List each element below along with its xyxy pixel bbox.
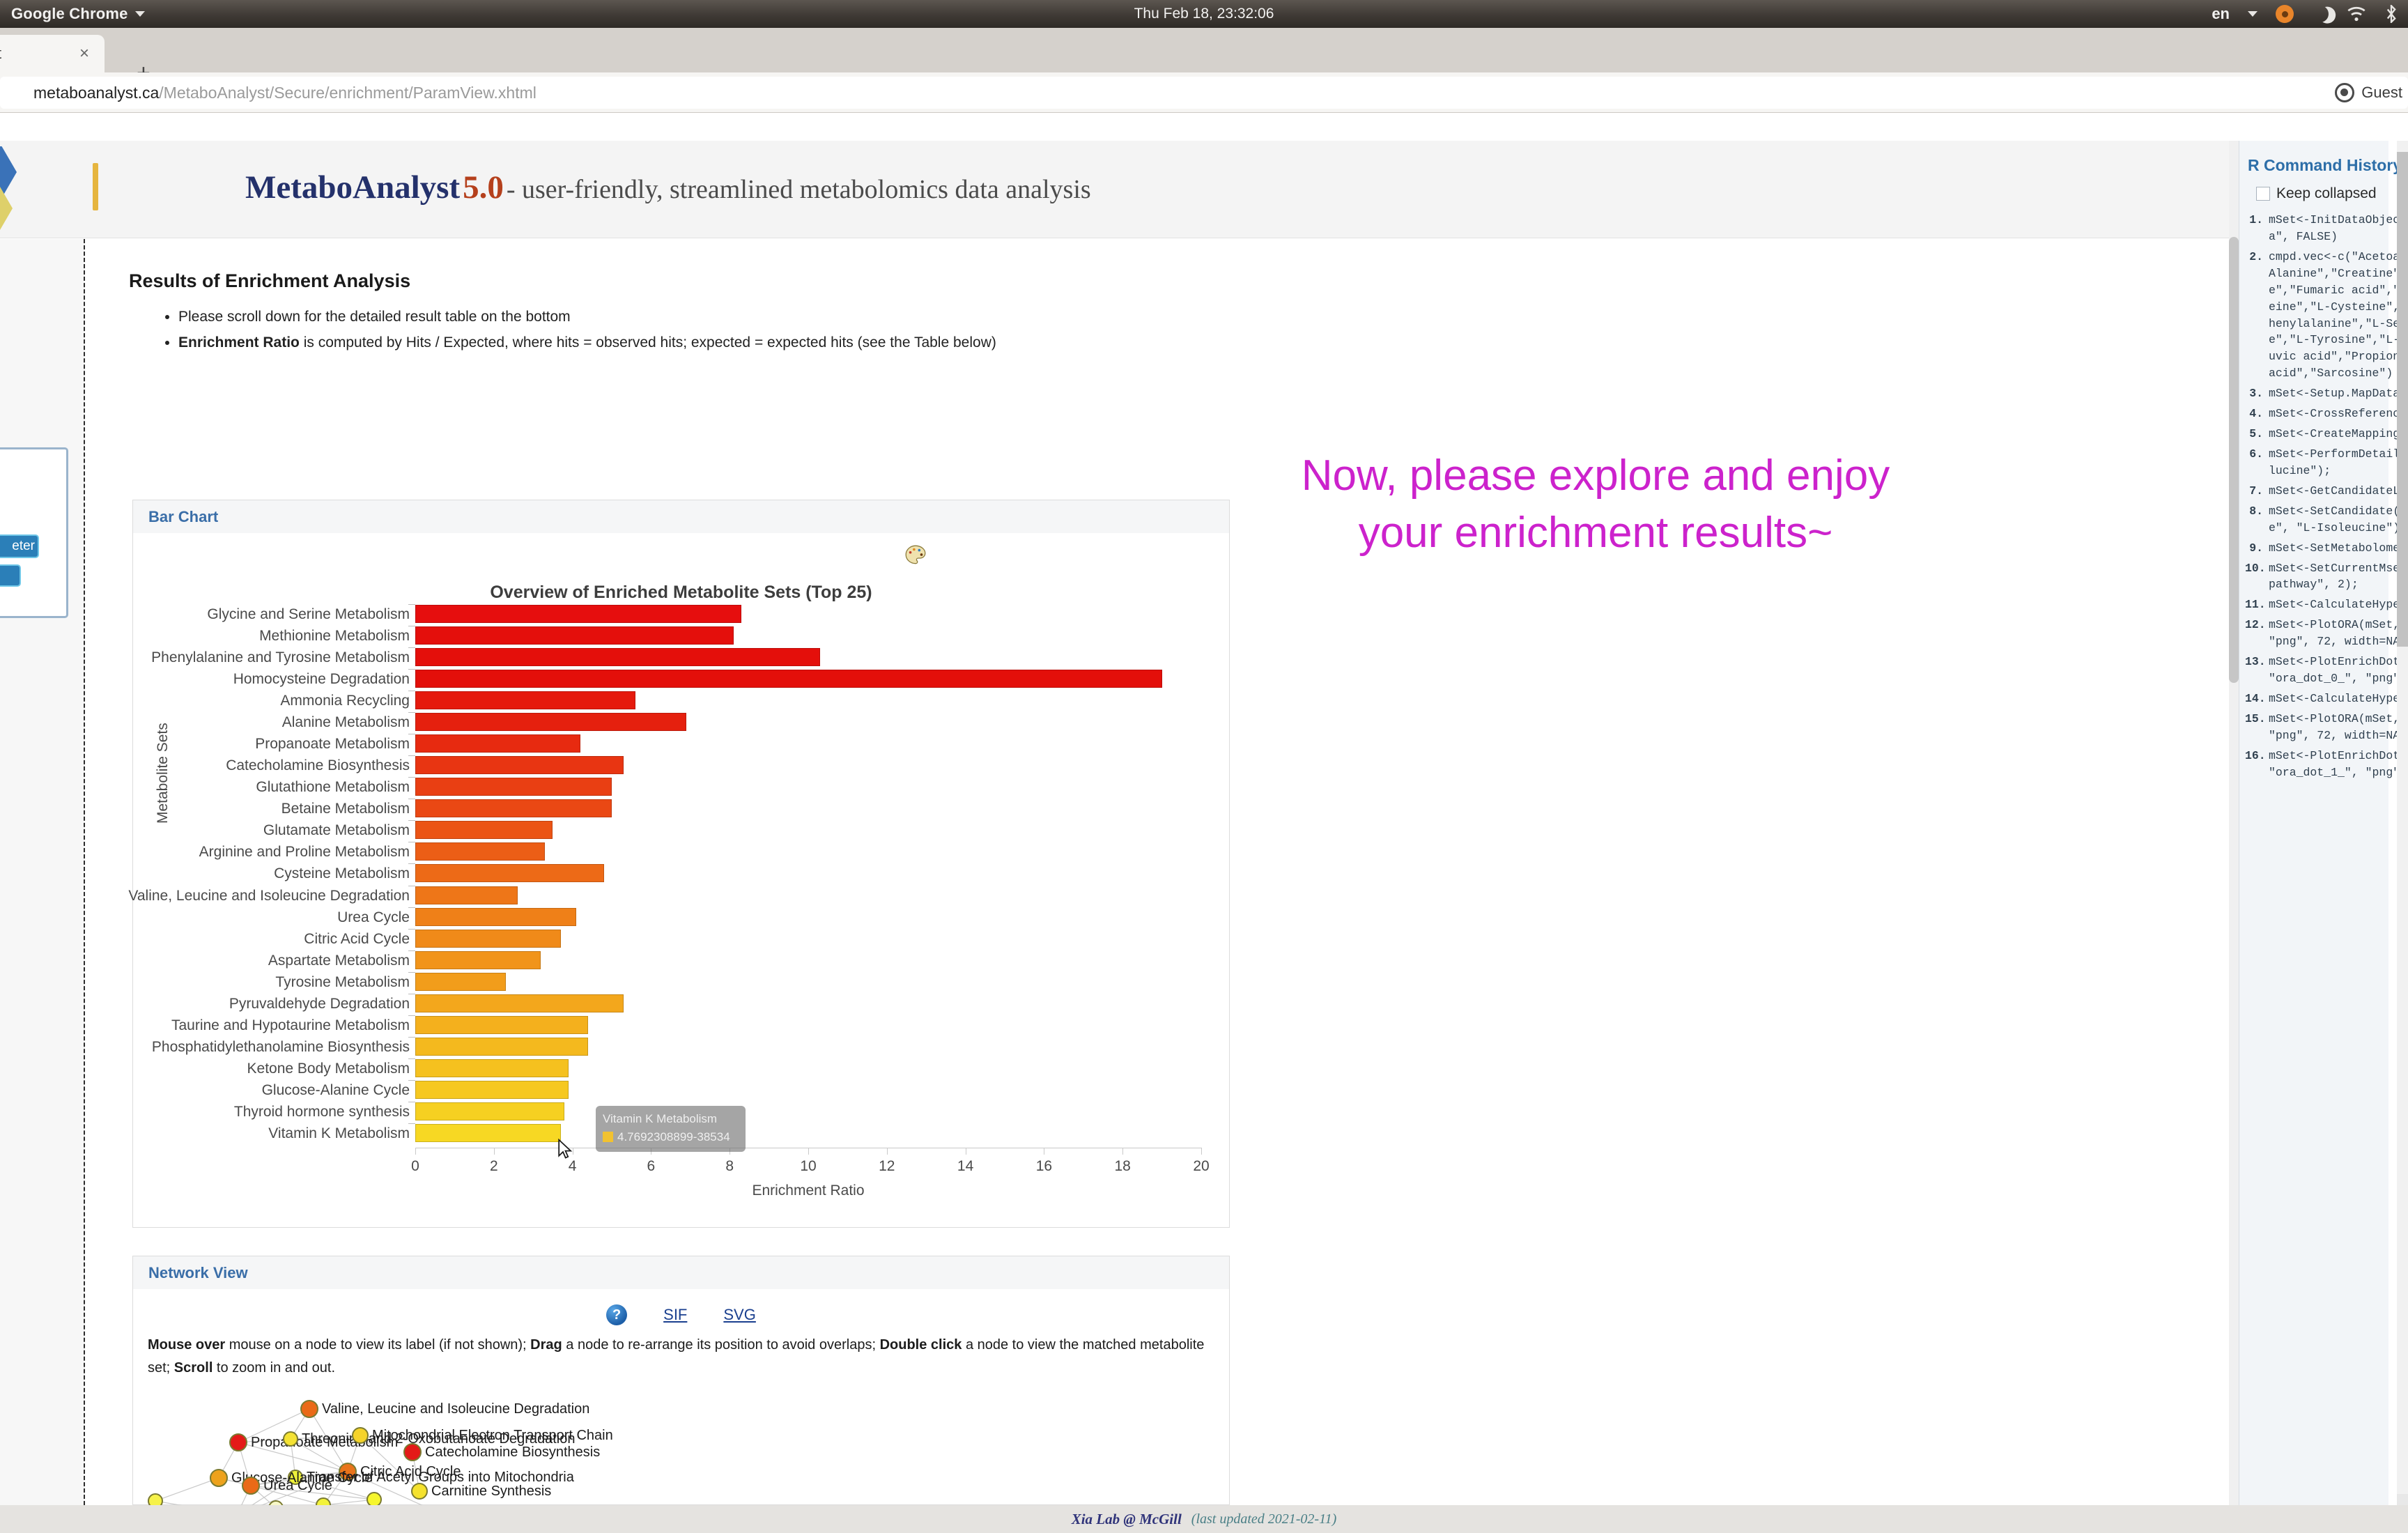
x-axis-tick-label: 8 <box>725 1158 734 1175</box>
y-axis-tick-label: Glutamate Metabolism <box>0 822 410 839</box>
r-command-item: 7.mSet<-GetCandidateL <box>2245 483 2405 500</box>
bar[interactable] <box>415 778 612 796</box>
y-axis-tick-label: Methionine Metabolism <box>0 628 410 645</box>
bar-row[interactable]: Aspartate Metabolism <box>415 951 1201 969</box>
note-item: Enrichment Ratio is computed by Hits / E… <box>178 334 1276 351</box>
y-axis-tick-label: Aspartate Metabolism <box>0 953 410 969</box>
bar-row[interactable]: Ammonia Recycling <box>415 691 1201 709</box>
scroll-down-button[interactable] <box>2397 1494 2408 1505</box>
r-command-item: 8.mSet<-SetCandidate( e", "L-Isoleucine"… <box>2245 503 2405 537</box>
system-tray: en <box>2212 5 2398 23</box>
r-command-index: 14. <box>2245 691 2269 707</box>
x-axis-tick-label: 10 <box>800 1158 816 1175</box>
overlay-line-1: Now, please explore and enjoy <box>1226 447 1965 504</box>
bar[interactable] <box>415 1102 564 1120</box>
results-heading: Results of Enrichment Analysis <box>129 270 410 292</box>
bar-row[interactable]: Methionine Metabolism <box>415 626 1201 645</box>
footer-updated: (last updated 2021-02-11) <box>1191 1511 1337 1527</box>
palette-icon[interactable] <box>904 544 927 567</box>
results-notes: Please scroll down for the detailed resu… <box>162 309 1276 360</box>
help-icon[interactable]: ? <box>606 1304 627 1325</box>
bar[interactable] <box>415 799 612 817</box>
svg-download-link[interactable]: SVG <box>723 1306 755 1324</box>
y-axis-tick-label: Glucose-Alanine Cycle <box>0 1082 410 1099</box>
network-node[interactable] <box>300 1400 318 1418</box>
y-axis-tick <box>408 950 415 951</box>
sif-download-link[interactable]: SIF <box>663 1306 687 1324</box>
y-axis-tick <box>408 647 415 648</box>
header-divider <box>93 163 98 210</box>
r-history-title: R Command History <box>2248 156 2402 175</box>
brand-tagline: - user-friendly, streamlined metabolomic… <box>507 175 1091 204</box>
r-command-index: 16. <box>2245 748 2269 781</box>
navigation-panel[interactable] <box>0 447 68 618</box>
y-axis-tick <box>408 1058 415 1059</box>
bar-row[interactable]: Taurine and Hypotaurine Metabolism <box>415 1016 1201 1034</box>
bar[interactable] <box>415 756 624 774</box>
r-command-code: mSet<-PerformDetail lucine"); <box>2269 446 2400 479</box>
instruction-text: to zoom in and out. <box>213 1360 335 1376</box>
y-axis-tick-label: Ammonia Recycling <box>0 693 410 709</box>
y-axis-tick <box>408 712 415 713</box>
y-axis-tick-label: Ketone Body Metabolism <box>0 1061 410 1077</box>
y-axis-tick-label: Taurine and Hypotaurine Metabolism <box>0 1017 410 1034</box>
r-command-code: mSet<-SetCandidate( e", "L-Isoleucine") <box>2269 503 2400 537</box>
x-axis-tick <box>1044 1148 1044 1155</box>
y-axis-tick <box>408 863 415 864</box>
r-command-index: 4. <box>2245 406 2269 422</box>
panel-title: Bar Chart <box>148 508 218 526</box>
r-command-code: mSet<-PlotORA(mSet, "png", 72, width=NA <box>2269 617 2400 650</box>
y-axis-tick-label: Valine, Leucine and Isoleucine Degradati… <box>0 888 410 904</box>
bar-row[interactable]: Catecholamine Biosynthesis <box>415 756 1201 774</box>
instruction-keyword: Scroll <box>174 1360 213 1376</box>
y-axis-tick <box>408 669 415 670</box>
r-command-item: 5.mSet<-CreateMapping <box>2245 426 2405 442</box>
tooltip-swatch <box>603 1132 613 1142</box>
bar-row[interactable]: Cysteine Metabolism <box>415 864 1201 882</box>
bar-row[interactable]: Thyroid hormone synthesis <box>415 1102 1201 1120</box>
network-node[interactable] <box>148 1493 163 1505</box>
secondary-button[interactable] <box>0 564 21 587</box>
x-axis-tick-label: 18 <box>1115 1158 1131 1175</box>
x-axis-tick <box>887 1148 888 1155</box>
bar-row[interactable]: Phenylalanine and Tyrosine Metabolism <box>415 648 1201 666</box>
network-node[interactable] <box>229 1433 247 1451</box>
bar[interactable] <box>415 1081 569 1099</box>
y-axis-tick-label: Vitamin K Metabolism <box>0 1125 410 1142</box>
x-axis-tick <box>808 1148 809 1155</box>
bar-row[interactable]: Alanine Metabolism <box>415 713 1201 731</box>
avatar <box>2335 83 2354 102</box>
network-instructions: Mouse over mouse on a node to view its l… <box>148 1334 1221 1380</box>
x-axis-tick-label: 16 <box>1036 1158 1052 1175</box>
y-axis-tick-label: Glutathione Metabolism <box>0 779 410 796</box>
bar[interactable] <box>415 821 553 839</box>
y-axis-tick <box>408 626 415 626</box>
instruction-keyword: Mouse over <box>148 1337 225 1353</box>
note-item: Please scroll down for the detailed resu… <box>178 309 1276 325</box>
y-axis-tick-label: Catecholamine Biosynthesis <box>0 757 410 774</box>
y-axis-tick <box>408 1102 415 1102</box>
y-axis-tick <box>408 994 415 994</box>
y-axis-tick-label: Phenylalanine and Tyrosine Metabolism <box>0 649 410 666</box>
r-command-item: 3.mSet<-Setup.MapData <box>2245 385 2405 402</box>
r-command-code: mSet<-CalculateHype <box>2269 596 2400 613</box>
y-axis-tick <box>408 604 415 605</box>
r-command-history-panel: R Command History Keep collapsed 1.mSet<… <box>2239 141 2388 1505</box>
url-text: metaboanalyst.ca/MetaboAnalyst/Secure/en… <box>33 84 537 102</box>
r-command-index: 12. <box>2245 617 2269 650</box>
page-title: MetaboAnalyst 5.0 - user-friendly, strea… <box>245 169 1091 206</box>
bluetooth-icon[interactable] <box>2384 5 2398 23</box>
r-command-code: mSet<-CalculateHype <box>2269 691 2400 707</box>
app-menu-label: Google Chrome <box>11 5 128 23</box>
r-command-item: 9.mSet<-SetMetabolome <box>2245 540 2405 557</box>
y-axis-tick <box>408 734 415 734</box>
close-icon[interactable]: × <box>79 44 89 63</box>
x-axis-tick-label: 0 <box>411 1158 419 1175</box>
profile-label: Guest <box>2361 84 2402 102</box>
bar-row[interactable]: Citric Acid Cycle <box>415 930 1201 948</box>
r-command-item: 16.mSet<-PlotEnrichDot "ora_dot_1_", "pn… <box>2245 748 2405 781</box>
r-command-item: 15.mSet<-PlotORA(mSet, "png", 72, width=… <box>2245 711 2405 744</box>
bar-row[interactable]: Phosphatidylethanolamine Biosynthesis <box>415 1038 1201 1056</box>
network-node-label: Mitochondrial Electron Transport Chain <box>372 1428 613 1444</box>
parameter-button[interactable]: eter <box>0 534 39 558</box>
bar-row[interactable]: Pyruvaldehyde Degradation <box>415 994 1201 1012</box>
brand-name: MetaboAnalyst <box>245 169 460 206</box>
bar-row[interactable]: Vitamin K Metabolism <box>415 1124 1201 1142</box>
bar-row[interactable]: Homocysteine Degradation <box>415 670 1201 688</box>
y-axis-tick-label: Cysteine Metabolism <box>0 865 410 882</box>
night-mode-icon[interactable] <box>2310 3 2331 25</box>
network-node-label: Catecholamine Biosynthesis <box>425 1445 600 1461</box>
bar-row[interactable]: Arginine and Proline Metabolism <box>415 842 1201 861</box>
x-axis-tick-label: 20 <box>1193 1158 1209 1175</box>
instruction-text: mouse on a node to view its label (if no… <box>225 1337 530 1353</box>
r-command-item: 2.cmpd.vec<-c("Acetoa Alanine","Creatine… <box>2245 249 2405 382</box>
bar-row[interactable]: Glucose-Alanine Cycle <box>415 1081 1201 1099</box>
brightness-icon[interactable] <box>2276 5 2294 23</box>
r-command-code: mSet<-PlotORA(mSet, "png", 72, width=NA <box>2269 711 2400 744</box>
r-command-code: mSet<-CrossReferenc <box>2269 406 2400 422</box>
network-node[interactable] <box>352 1427 369 1444</box>
overlay-message: Now, please explore and enjoy your enric… <box>1226 447 1965 562</box>
bar[interactable] <box>415 670 1162 688</box>
bar[interactable] <box>415 1059 569 1077</box>
r-command-item: 4.mSet<-CrossReferenc <box>2245 406 2405 422</box>
panel-title: Network View <box>148 1264 248 1282</box>
profile-button[interactable]: Guest <box>2335 83 2402 102</box>
r-command-index: 7. <box>2245 483 2269 500</box>
tooltip-value-row: 4.7692308899-38534 <box>603 1128 739 1146</box>
y-axis-tick <box>408 842 415 842</box>
chevron-down-icon <box>135 11 145 17</box>
network-node[interactable] <box>411 1483 428 1500</box>
x-axis-label: Enrichment Ratio <box>415 1183 1201 1199</box>
y-axis-tick <box>408 820 415 821</box>
keep-collapsed-checkbox[interactable] <box>2256 187 2270 201</box>
y-axis-tick-label: Citric Acid Cycle <box>0 931 410 948</box>
x-axis-tick-label: 12 <box>879 1158 895 1175</box>
y-axis-tick <box>408 929 415 930</box>
site-header: MetaboAnalyst 5.0 - user-friendly, strea… <box>0 141 2239 238</box>
page-viewport: MetaboAnalyst 5.0 - user-friendly, strea… <box>0 141 2408 1505</box>
bar[interactable] <box>415 648 820 666</box>
bar[interactable] <box>415 626 734 645</box>
r-command-code: mSet<-PlotEnrichDot "ora_dot_0_", "png" <box>2269 654 2400 687</box>
r-command-index: 13. <box>2245 654 2269 687</box>
y-axis-tick-label: Tyrosine Metabolism <box>0 974 410 991</box>
y-axis-tick <box>408 777 415 778</box>
bar[interactable] <box>415 605 741 623</box>
bar[interactable] <box>415 930 561 948</box>
x-axis-tick-label: 14 <box>957 1158 973 1175</box>
r-command-index: 9. <box>2245 540 2269 557</box>
r-command-index: 2. <box>2245 249 2269 382</box>
y-axis-tick-label: Urea Cycle <box>0 909 410 926</box>
x-axis-tick-label: 4 <box>569 1158 577 1175</box>
tooltip-value: 4.7692308899-38534 <box>617 1130 730 1143</box>
network-node-label: Carnitine Synthesis <box>431 1484 551 1500</box>
keep-collapsed-label: Keep collapsed <box>2276 185 2377 202</box>
x-axis-tick <box>1122 1148 1123 1155</box>
y-axis-tick <box>408 907 415 908</box>
x-axis-tick <box>966 1148 966 1155</box>
y-axis-tick-label: Propanoate Metabolism <box>0 736 410 753</box>
r-command-item: 10.mSet<-SetCurrentMse pathway", 2); <box>2245 560 2405 594</box>
r-command-item: 6.mSet<-PerformDetail lucine"); <box>2245 446 2405 479</box>
y-axis-tick <box>408 1037 415 1038</box>
page-scrollbar-thumb[interactable] <box>2397 152 2408 647</box>
network-node[interactable] <box>210 1469 228 1487</box>
bar[interactable] <box>415 1124 561 1142</box>
omnibox-row: metaboanalyst.ca/MetaboAnalyst/Secure/en… <box>0 72 2408 113</box>
network-node[interactable] <box>366 1492 382 1505</box>
bar[interactable] <box>415 691 635 709</box>
bar-row[interactable]: Tyrosine Metabolism <box>415 973 1201 991</box>
r-command-item: 13.mSet<-PlotEnrichDot "ora_dot_0_", "pn… <box>2245 654 2405 687</box>
footer-lab[interactable]: Xia Lab @ McGill <box>1072 1511 1182 1528</box>
instruction-keyword: Double click <box>880 1337 962 1353</box>
bar[interactable] <box>415 908 576 926</box>
r-command-item: 12.mSet<-PlotORA(mSet, "png", 72, width=… <box>2245 617 2405 650</box>
network-toolbar: ? SIF SVG <box>132 1304 1230 1325</box>
r-command-code: mSet<-SetCurrentMse pathway", 2); <box>2269 560 2400 594</box>
r-command-index: 5. <box>2245 426 2269 442</box>
url-host: metaboanalyst.ca <box>33 84 159 102</box>
wifi-icon[interactable] <box>2347 6 2366 22</box>
x-axis-tick-label: 2 <box>490 1158 498 1175</box>
r-command-item: 11.mSet<-CalculateHype <box>2245 596 2405 613</box>
y-axis-tick-label: Betaine Metabolism <box>0 801 410 817</box>
y-axis-tick-label: Thyroid hormone synthesis <box>0 1104 410 1120</box>
app-menu[interactable]: Google Chrome <box>11 5 145 23</box>
r-command-index: 15. <box>2245 711 2269 744</box>
chevron-down-icon[interactable] <box>2248 11 2257 17</box>
bar[interactable] <box>415 864 604 882</box>
bar-row[interactable]: Urea Cycle <box>415 908 1201 926</box>
y-axis-tick-label: Homocysteine Degradation <box>0 671 410 688</box>
network-node[interactable] <box>403 1443 422 1461</box>
panel-scrollbar-thumb[interactable] <box>2229 237 2239 683</box>
y-axis-tick-label: Pyruvaldehyde Degradation <box>0 996 410 1012</box>
clock[interactable]: Thu Feb 18, 23:32:06 <box>1134 6 1274 22</box>
r-command-code: mSet<-CreateMapping <box>2269 426 2400 442</box>
y-axis-tick-label: Glycine and Serine Metabolism <box>0 606 410 623</box>
network-graph[interactable]: Valine, Leucine and Isoleucine Degradati… <box>134 1388 1228 1505</box>
r-command-code: cmpd.vec<-c("Acetoa Alanine","Creatine" … <box>2269 249 2400 382</box>
r-command-index: 1. <box>2245 212 2269 245</box>
y-axis-tick <box>408 1123 415 1124</box>
network-panel-header: Network View <box>132 1256 1230 1289</box>
bar[interactable] <box>415 951 541 969</box>
x-axis-tick <box>415 1148 416 1155</box>
r-command-index: 3. <box>2245 385 2269 402</box>
address-bar[interactable]: metaboanalyst.ca/MetaboAnalyst/Secure/en… <box>0 77 2408 109</box>
y-axis-tick-label: Arginine and Proline Metabolism <box>0 844 410 861</box>
network-node-label: Urea Cycle <box>263 1478 332 1494</box>
bar[interactable] <box>415 1016 588 1034</box>
tooltip-label: Vitamin K Metabolism <box>603 1110 739 1128</box>
bar-row[interactable]: Propanoate Metabolism <box>415 734 1201 753</box>
bar-row[interactable]: Glutathione Metabolism <box>415 778 1201 796</box>
r-command-code: mSet<-GetCandidateL <box>2269 483 2400 500</box>
bar[interactable] <box>415 994 624 1012</box>
network-node[interactable] <box>283 1431 298 1447</box>
y-axis-tick <box>408 972 415 973</box>
bar[interactable] <box>415 973 506 991</box>
y-axis-tick <box>408 755 415 756</box>
metaboanalyst-logo[interactable] <box>0 146 40 233</box>
bar[interactable] <box>415 886 518 904</box>
r-command-code: mSet<-Setup.MapData <box>2269 385 2400 402</box>
y-axis-tick-label: Alanine Metabolism <box>0 714 410 731</box>
r-command-item: 14.mSet<-CalculateHype <box>2245 691 2405 707</box>
bar-chart-plot: Glycine and Serine MetabolismMethionine … <box>415 603 1201 1144</box>
r-command-index: 8. <box>2245 503 2269 537</box>
r-command-index: 11. <box>2245 596 2269 613</box>
bar[interactable] <box>415 734 580 753</box>
tab-strip: yst × + <box>0 28 2408 72</box>
bar-row[interactable]: Glutamate Metabolism <box>415 821 1201 839</box>
mouse-cursor <box>557 1139 573 1160</box>
y-axis-tick <box>408 799 415 799</box>
overlay-line-2: your enrichment results~ <box>1226 504 1965 562</box>
x-axis-tick <box>1201 1148 1202 1155</box>
os-top-bar: Google Chrome Thu Feb 18, 23:32:06 en <box>0 0 2408 28</box>
bar-row[interactable]: Ketone Body Metabolism <box>415 1059 1201 1077</box>
y-axis-tick <box>408 886 415 886</box>
brand-version: 5.0 <box>463 169 504 206</box>
network-node[interactable] <box>242 1477 260 1495</box>
y-axis-tick <box>408 691 415 691</box>
x-axis-tick <box>494 1148 495 1155</box>
keyboard-layout-indicator[interactable]: en <box>2212 5 2230 23</box>
r-command-code: mSet<-PlotEnrichDot "ora_dot_1_", "png" <box>2269 748 2400 781</box>
bar-row[interactable]: Betaine Metabolism <box>415 799 1201 817</box>
browser-tab[interactable]: yst × <box>0 35 105 72</box>
r-command-index: 10. <box>2245 560 2269 594</box>
r-command-code: mSet<-SetMetabolome <box>2269 540 2400 557</box>
site-footer: Xia Lab @ McGill (last updated 2021-02-1… <box>0 1505 2408 1533</box>
instruction-keyword: Drag <box>530 1337 562 1353</box>
x-axis-tick-label: 6 <box>647 1158 656 1175</box>
chart-tooltip: Vitamin K Metabolism 4.7692308899-38534 <box>596 1106 746 1152</box>
url-path: /MetaboAnalyst/Secure/enrichment/ParamVi… <box>159 84 537 102</box>
y-axis-tick <box>408 1080 415 1081</box>
r-command-code: mSet<-InitDataObjec a", FALSE) <box>2269 212 2400 245</box>
bar[interactable] <box>415 713 686 731</box>
tab-title: yst <box>0 45 1 63</box>
chart-title: Overview of Enriched Metabolite Sets (To… <box>132 583 1230 603</box>
panel-header[interactable]: Bar Chart <box>133 500 1229 534</box>
keep-collapsed-row[interactable]: Keep collapsed <box>2256 185 2377 202</box>
y-axis-tick-label: Phosphatidylethanolamine Biosynthesis <box>0 1039 410 1056</box>
y-axis-tick <box>408 1015 415 1016</box>
bar-row[interactable]: Valine, Leucine and Isoleucine Degradati… <box>415 886 1201 904</box>
bar[interactable] <box>415 842 545 861</box>
r-command-list: 1.mSet<-InitDataObjec a", FALSE)2.cmpd.v… <box>2245 212 2405 785</box>
r-command-index: 6. <box>2245 446 2269 479</box>
instruction-text: a node to re-arrange its position to avo… <box>562 1337 880 1353</box>
r-command-item: 1.mSet<-InitDataObjec a", FALSE) <box>2245 212 2405 245</box>
bar[interactable] <box>415 1038 588 1056</box>
bar-row[interactable]: Glycine and Serine Metabolism <box>415 605 1201 623</box>
network-node-label: Valine, Leucine and Isoleucine Degradati… <box>322 1401 589 1417</box>
panel-header[interactable]: Network View <box>133 1256 1229 1290</box>
browser-window: yst × + metaboanalyst.ca/MetaboAnalyst/S… <box>0 28 2408 1505</box>
